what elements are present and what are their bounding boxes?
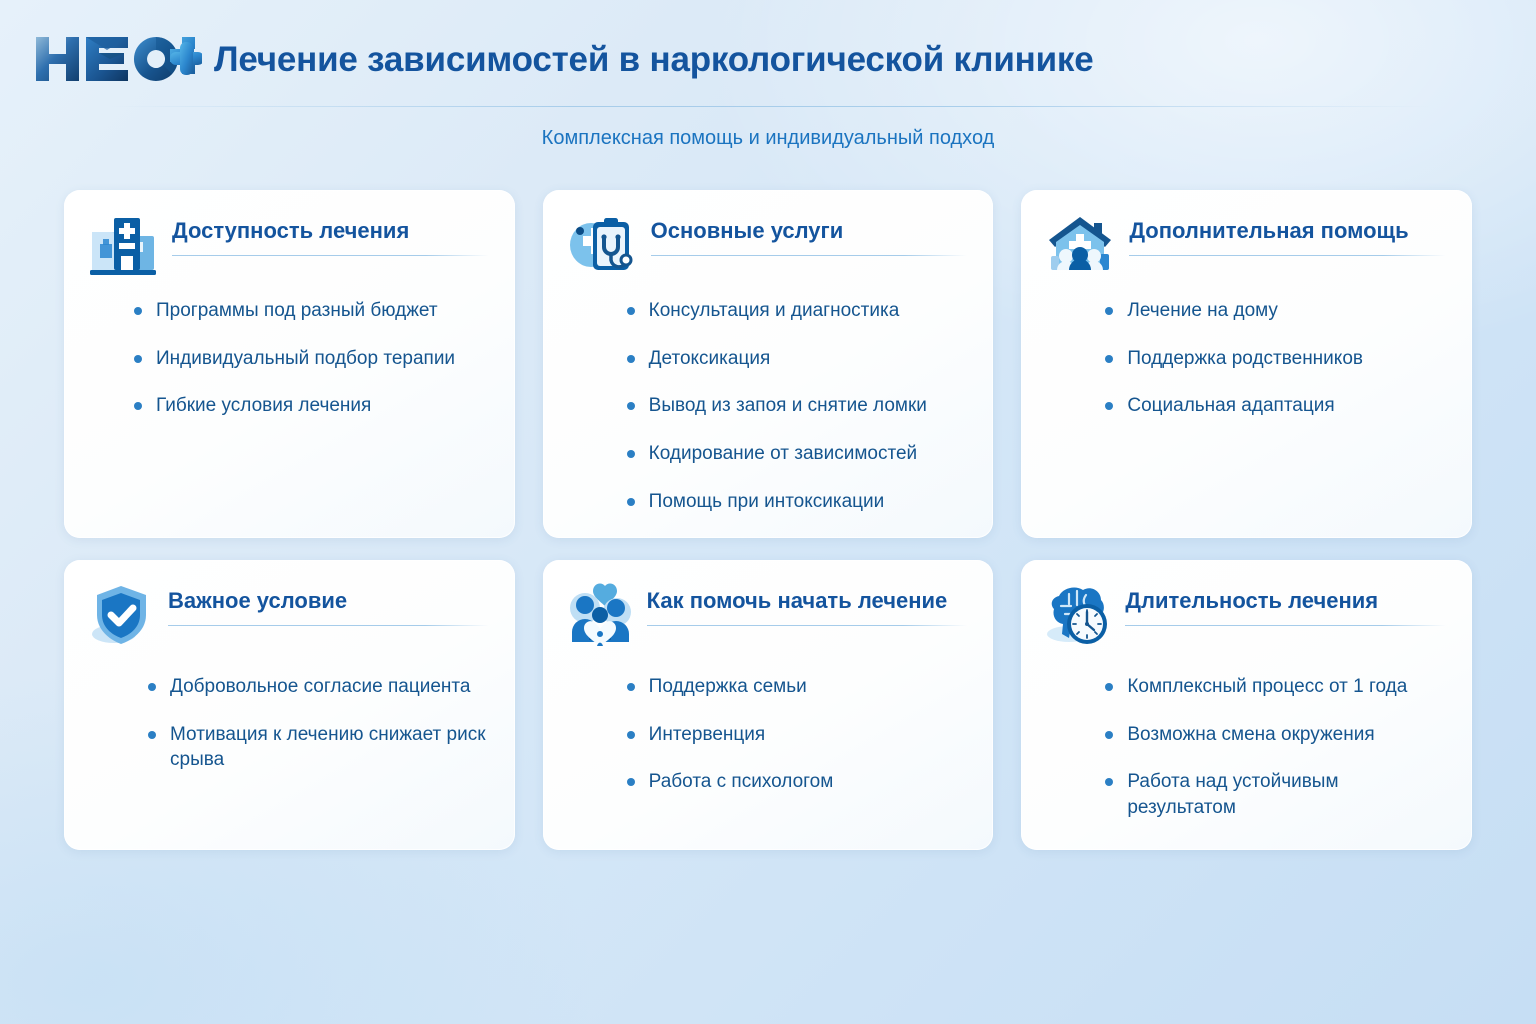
- list-item-label: Вывод из запоя и снятие ломки: [649, 393, 927, 419]
- card-main-services[interactable]: Основные услуги Консультация и диагности…: [543, 190, 994, 538]
- page-subtitle: Комплексная помощь и индивидуальный подх…: [0, 127, 1536, 150]
- list-item: Вывод из запоя и снятие ломки: [627, 393, 968, 419]
- list-item: Социальная адаптация: [1105, 393, 1446, 419]
- card-title: Дополнительная помощь: [1129, 218, 1446, 243]
- list-item: Лечение на дому: [1105, 298, 1446, 324]
- list-item: Программы под разный бюджет: [134, 298, 489, 324]
- card-head-text: Основные услуги: [651, 212, 968, 256]
- card-header: Важное условие: [88, 582, 489, 648]
- family-heart-icon: [567, 582, 633, 648]
- bullet-dot-icon: [134, 307, 142, 315]
- list-item-label: Кодирование от зависимостей: [649, 441, 917, 467]
- bullet-dot-icon: [1105, 355, 1113, 363]
- card-head-text: Доступность лечения: [172, 212, 489, 256]
- bullet-dot-icon: [1105, 778, 1113, 786]
- bullet-dot-icon: [148, 683, 156, 691]
- header-divider: [110, 106, 1430, 107]
- list-item: Работа над устойчивым результатом: [1105, 769, 1446, 820]
- card-head-text: Как помочь начать лечение: [647, 582, 968, 626]
- list-item-label: Помощь при интоксикации: [649, 489, 885, 515]
- bullet-dot-icon: [627, 731, 635, 739]
- card-head-text: Дополнительная помощь: [1129, 212, 1446, 256]
- card-bullet-list: Лечение на дому Поддержка родственников …: [1045, 298, 1446, 419]
- bullet-dot-icon: [627, 307, 635, 315]
- page-header: Лечение зависимостей в наркологической к…: [0, 0, 1536, 110]
- list-item-label: Работа над устойчивым результатом: [1127, 769, 1446, 820]
- list-item: Работа с психологом: [627, 769, 968, 795]
- list-item: Комплексный процесс от 1 года: [1105, 674, 1446, 700]
- card-title: Как помочь начать лечение: [647, 588, 968, 613]
- card-divider: [647, 625, 968, 626]
- list-item: Поддержка родственников: [1105, 346, 1446, 372]
- card-header: Доступность лечения: [88, 212, 489, 278]
- bullet-dot-icon: [627, 402, 635, 410]
- card-treatment-duration[interactable]: Длительность лечения Комплексный процесс…: [1021, 560, 1472, 850]
- list-item-label: Комплексный процесс от 1 года: [1127, 674, 1407, 700]
- card-title: Основные услуги: [651, 218, 968, 243]
- bullet-dot-icon: [627, 778, 635, 786]
- bullet-dot-icon: [627, 450, 635, 458]
- list-item: Поддержка семьи: [627, 674, 968, 700]
- card-header: Дополнительная помощь: [1045, 212, 1446, 278]
- list-item-label: Добровольное согласие пациента: [170, 674, 470, 700]
- list-item: Интервенция: [627, 722, 968, 748]
- card-title: Длительность лечения: [1125, 588, 1446, 613]
- bullet-dot-icon: [627, 683, 635, 691]
- card-bullet-list: Комплексный процесс от 1 года Возможна с…: [1045, 674, 1446, 821]
- list-item-label: Консультация и диагностика: [649, 298, 900, 324]
- bullet-dot-icon: [1105, 307, 1113, 315]
- card-header: Длительность лечения: [1045, 582, 1446, 648]
- list-item: Консультация и диагностика: [627, 298, 968, 324]
- card-bullet-list: Программы под разный бюджет Индивидуальн…: [88, 298, 489, 419]
- card-divider: [168, 625, 489, 626]
- list-item-label: Индивидуальный подбор терапии: [156, 346, 455, 372]
- card-head-text: Длительность лечения: [1125, 582, 1446, 626]
- list-item-label: Возможна смена окружения: [1127, 722, 1374, 748]
- bullet-dot-icon: [1105, 402, 1113, 410]
- brain-clock-icon: [1045, 582, 1111, 648]
- list-item: Помощь при интоксикации: [627, 489, 968, 515]
- bullet-dot-icon: [134, 355, 142, 363]
- list-item-label: Поддержка семьи: [649, 674, 807, 700]
- list-item-label: Работа с психологом: [649, 769, 834, 795]
- cards-row-top: Доступность лечения Программы под разный…: [64, 190, 1472, 538]
- list-item-label: Интервенция: [649, 722, 766, 748]
- list-item-label: Детоксикация: [649, 346, 771, 372]
- cards-row-bottom: Важное условие Добровольное согласие пац…: [64, 560, 1472, 850]
- card-important-condition[interactable]: Важное условие Добровольное согласие пац…: [64, 560, 515, 850]
- shield-check-icon: [88, 582, 154, 648]
- card-title: Доступность лечения: [172, 218, 489, 243]
- hospital-building-icon: [88, 212, 158, 278]
- card-bullet-list: Поддержка семьи Интервенция Работа с пси…: [567, 674, 968, 795]
- list-item: Гибкие условия лечения: [134, 393, 489, 419]
- list-item: Мотивация к лечению снижает риск срыва: [148, 722, 489, 773]
- bullet-dot-icon: [1105, 731, 1113, 739]
- list-item: Возможна смена окружения: [1105, 722, 1446, 748]
- list-item-label: Программы под разный бюджет: [156, 298, 438, 324]
- card-how-to-start-treatment[interactable]: Как помочь начать лечение Поддержка семь…: [543, 560, 994, 850]
- list-item: Детоксикация: [627, 346, 968, 372]
- list-item-label: Гибкие условия лечения: [156, 393, 371, 419]
- card-bullet-list: Консультация и диагностика Детоксикация …: [567, 298, 968, 514]
- card-divider: [1129, 255, 1446, 256]
- bullet-dot-icon: [148, 731, 156, 739]
- list-item-label: Социальная адаптация: [1127, 393, 1334, 419]
- card-bullet-list: Добровольное согласие пациента Мотивация…: [88, 674, 489, 773]
- bullet-dot-icon: [627, 355, 635, 363]
- card-header: Как помочь начать лечение: [567, 582, 968, 648]
- list-item-label: Поддержка родственников: [1127, 346, 1363, 372]
- card-divider: [1125, 625, 1446, 626]
- card-head-text: Важное условие: [168, 582, 489, 626]
- bullet-dot-icon: [1105, 683, 1113, 691]
- card-header: Основные услуги: [567, 212, 968, 278]
- bullet-dot-icon: [627, 498, 635, 506]
- card-additional-help[interactable]: Дополнительная помощь Лечение на дому По…: [1021, 190, 1472, 538]
- card-title: Важное условие: [168, 588, 489, 613]
- page-title: Лечение зависимостей в наркологической к…: [214, 40, 1094, 80]
- list-item: Кодирование от зависимостей: [627, 441, 968, 467]
- list-item-label: Мотивация к лечению снижает риск срыва: [170, 722, 489, 773]
- card-divider: [651, 255, 968, 256]
- house-family-icon: [1045, 212, 1115, 278]
- clipboard-stethoscope-icon: [567, 212, 637, 278]
- cards-grid: Доступность лечения Программы под разный…: [64, 190, 1472, 850]
- card-divider: [172, 255, 489, 256]
- list-item: Добровольное согласие пациента: [148, 674, 489, 700]
- card-treatment-availability[interactable]: Доступность лечения Программы под разный…: [64, 190, 515, 538]
- bullet-dot-icon: [134, 402, 142, 410]
- list-item-label: Лечение на дому: [1127, 298, 1278, 324]
- neo-plus-logo: [32, 31, 202, 87]
- list-item: Индивидуальный подбор терапии: [134, 346, 489, 372]
